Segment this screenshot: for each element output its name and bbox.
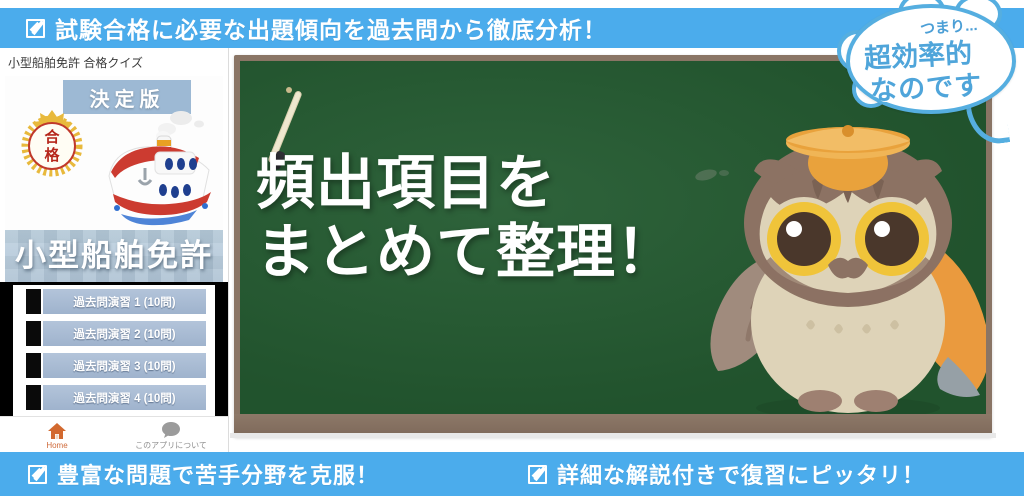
bottom-banner-text-1: 豊富な問題で苦手分野を克服！ <box>57 458 379 490</box>
list-item[interactable]: 過去問演習 1 (10問) <box>13 288 215 315</box>
quiz-list-inner: 過去問演習 1 (10問) 過去問演習 2 (10問) 過去問演習 3 (10問… <box>13 285 215 416</box>
row-marker <box>26 385 41 410</box>
speech-bubble: つまり... 超効率的 なのです <box>846 4 1016 114</box>
tab-home-label: Home <box>46 441 67 450</box>
row-marker <box>26 321 41 346</box>
speech-bubble-text: つまり... 超効率的 なのです <box>846 4 1016 114</box>
blackboard-headline: 頻出項目を まとめて整理！ <box>256 149 736 287</box>
checkbox-checked-icon <box>28 465 47 484</box>
list-item[interactable]: 過去問演習 4 (10問) <box>13 384 215 411</box>
quiz-button-3[interactable]: 過去問演習 3 (10問) <box>43 353 206 378</box>
quiz-button-label: 過去問演習 2 (10問) <box>73 326 175 342</box>
tab-about[interactable]: このアプリについて <box>114 417 228 454</box>
quiz-button-label: 過去問演習 4 (10問) <box>73 390 175 406</box>
top-banner-row: 試験合格に必要な出題傾向を過去問から徹底分析！ <box>26 11 607 45</box>
bottom-banner-item-1: 豊富な問題で苦手分野を克服！ <box>28 458 379 490</box>
svg-text:格: 格 <box>44 146 60 164</box>
list-item[interactable]: 過去問演習 2 (10問) <box>13 320 215 347</box>
app-tabbar: Home このアプリについて <box>0 416 228 454</box>
quiz-button-label: 過去問演習 3 (10問) <box>73 358 175 374</box>
bottom-banner-item-2: 詳細な解説付きで復習にピッタリ！ <box>528 458 925 490</box>
list-item[interactable]: 過去問演習 3 (10問) <box>13 352 215 379</box>
checkbox-checked-icon <box>26 19 45 38</box>
row-marker <box>26 289 41 314</box>
app-window-title: 小型船舶免許 合格クイズ <box>8 54 143 71</box>
quiz-button-4[interactable]: 過去問演習 4 (10問) <box>43 385 206 410</box>
bottom-banner-text-2: 詳細な解説付きで復習にピッタリ！ <box>557 458 925 490</box>
quiz-list[interactable]: 過去問演習 1 (10問) 過去問演習 2 (10問) 過去問演習 3 (10問… <box>0 282 228 416</box>
boat-icon <box>101 102 219 228</box>
speech-bubble-icon <box>161 421 181 439</box>
blackboard-ledge <box>234 414 992 435</box>
app-preview-panel: 小型船舶免許 合格クイズ 決定版 合 格 <box>0 48 229 454</box>
quiz-button-2[interactable]: 過去問演習 2 (10問) <box>43 321 206 346</box>
bubble-line-2: なのです <box>869 63 983 108</box>
app-hero-image: 決定版 合 格 <box>5 76 223 236</box>
promo-banner-screenshot: 試験合格に必要な出題傾向を過去問から徹底分析！ 小型船舶免許 合格クイズ 決定版… <box>0 0 1024 500</box>
home-icon <box>47 422 67 440</box>
section-band-label: 小型船舶免許 <box>5 230 223 282</box>
blackboard-ledge-lip <box>230 433 996 438</box>
checkbox-checked-icon <box>528 465 547 484</box>
row-marker <box>26 353 41 378</box>
quiz-button-label: 過去問演習 1 (10問) <box>73 294 175 310</box>
section-band: 小型船舶免許 <box>5 230 223 282</box>
top-banner-text: 試験合格に必要な出題傾向を過去問から徹底分析！ <box>55 11 607 45</box>
blackboard: 頻出項目を まとめて整理！ <box>240 61 986 416</box>
tab-home[interactable]: Home <box>0 417 114 454</box>
pass-seal-icon: 合 格 <box>19 106 85 178</box>
blackboard-line-1: 頻出項目を <box>256 149 736 218</box>
quiz-button-1[interactable]: 過去問演習 1 (10問) <box>43 289 206 314</box>
svg-text:合: 合 <box>43 128 60 146</box>
bottom-banner: 豊富な問題で苦手分野を克服！ 詳細な解説付きで復習にピッタリ！ <box>0 452 1024 496</box>
tab-about-label: このアプリについて <box>135 440 207 451</box>
blackboard-line-2: まとめて整理！ <box>256 218 736 287</box>
